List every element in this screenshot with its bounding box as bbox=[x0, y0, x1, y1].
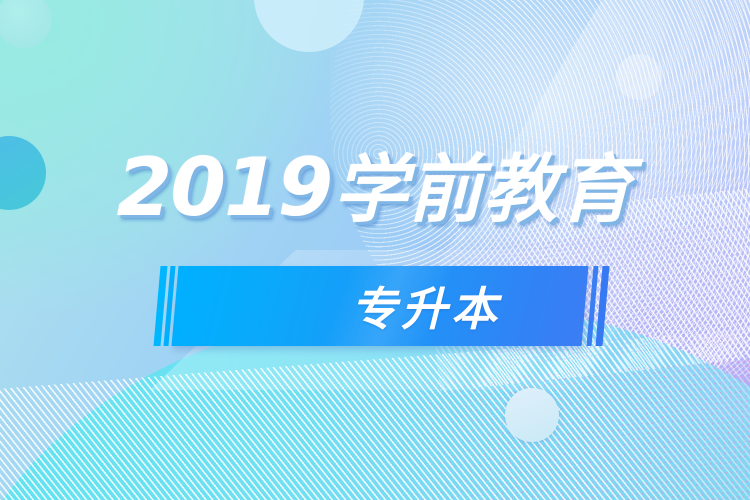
promotional-banner: 2019学前教育 专升本 bbox=[0, 0, 750, 500]
circle-decoration-upper-right bbox=[616, 54, 662, 100]
ribbon-accent-bar-right-outer bbox=[596, 266, 610, 346]
banner-headline: 2019学前教育 bbox=[0, 148, 750, 230]
headline-subject: 学前教育 bbox=[333, 147, 633, 233]
ribbon-banner: 专升本 bbox=[0, 258, 750, 358]
ribbon-label: 专升本 bbox=[175, 266, 585, 346]
headline-year: 2019 bbox=[117, 141, 334, 234]
circle-decoration-bottom bbox=[505, 388, 559, 442]
